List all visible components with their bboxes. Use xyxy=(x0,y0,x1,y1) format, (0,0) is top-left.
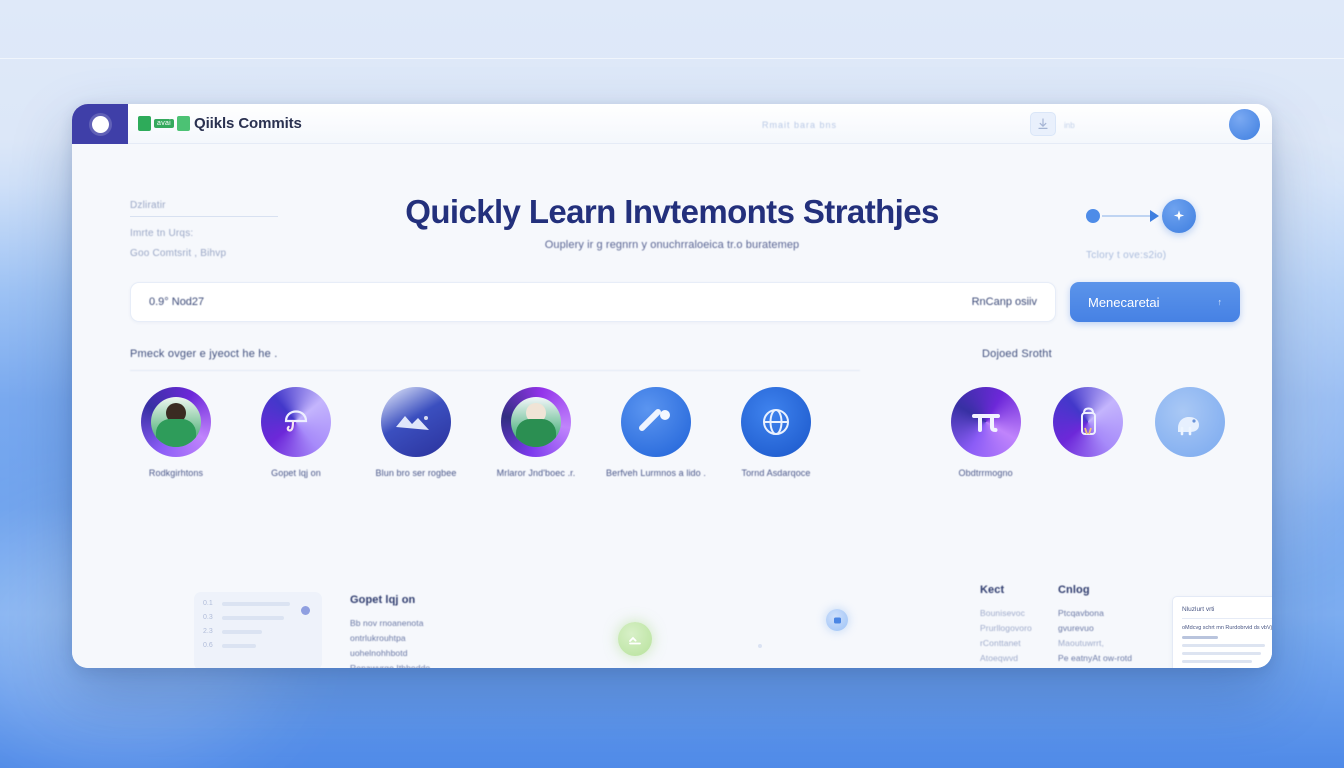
animal-icon xyxy=(1155,387,1225,457)
circle-icon xyxy=(92,116,109,133)
avatar-item[interactable]: Obdtrrmogno xyxy=(938,387,1033,480)
stats-row-bar xyxy=(222,602,290,606)
text-column: Kect Bounisevoc Prurllogovoro rConttanet… xyxy=(980,584,1052,668)
app-logo-badges: avai xyxy=(138,116,190,131)
backpack-icon xyxy=(1053,387,1123,457)
text-column-item: Renawvrge Ithhoddo xyxy=(350,661,480,668)
desktop-seam xyxy=(0,58,1344,59)
avatar-item[interactable]: Rodkgirhtons xyxy=(116,387,236,480)
document-card-divider xyxy=(1182,618,1272,619)
text-column-item: ontrlukrouhtpa xyxy=(350,631,480,646)
app-title: Qiikls Commits xyxy=(194,115,302,132)
toolbar-icon-label: inb xyxy=(1064,121,1075,130)
stats-row: 0.6 xyxy=(203,642,313,649)
chevron-up-icon: ↑ xyxy=(1218,297,1223,307)
window-body: Dzliratir Imrte tn Urqs: Goo Comtsrit , … xyxy=(72,144,1272,668)
right-section-title: Dojoed Srotht xyxy=(982,348,1252,370)
document-card-line xyxy=(1182,644,1265,647)
right-section-header: Dojoed Srotht xyxy=(982,348,1252,370)
document-card-line xyxy=(1182,660,1252,663)
avatar-label: Gopet lqj on xyxy=(236,467,356,480)
text-column-item: rConttanet xyxy=(980,636,1052,651)
avatar-item[interactable]: Gopet lqj on xyxy=(236,387,356,480)
search-value: 0.9° Nod27 xyxy=(149,296,204,308)
avatar-label: Obdtrrmogno xyxy=(938,467,1033,480)
avatar-label: Blun bro ser rogbee xyxy=(356,467,476,480)
arrow-right-icon xyxy=(1150,210,1159,222)
search-row: 0.9° Nod27 RnCanp osiiv Menecaretai ↑ xyxy=(130,282,1240,322)
widget-caption: Tclory t ove:s2io) xyxy=(1086,250,1236,261)
panel-dot-icon xyxy=(301,606,310,615)
avatar-grid: Rodkgirhtons Gopet lqj on xyxy=(116,387,906,480)
text-column-header: Cnlog xyxy=(1058,584,1162,596)
document-card-line xyxy=(1182,636,1218,639)
pi-icon xyxy=(951,387,1021,457)
text-column: Gopet lqj on Bb nov rnoanenota ontrlukro… xyxy=(350,594,480,668)
stats-row-bar xyxy=(222,616,284,620)
stats-row: 0.3 xyxy=(203,614,313,621)
text-column-item: etunnstnehv drgosnnu xyxy=(1058,666,1162,669)
person-icon xyxy=(141,387,211,457)
avatar-item[interactable]: Blun bro ser rogbee xyxy=(356,387,476,480)
globe-icon xyxy=(741,387,811,457)
document-card[interactable]: Nluzlurt vrti oMdcvg schrt mn Rurdobrvid… xyxy=(1172,596,1272,668)
stats-row-number: 0.3 xyxy=(203,614,215,621)
logo-square-icon xyxy=(177,116,190,131)
avatar-item[interactable]: Berfveh Lurmnos a lido . xyxy=(596,387,716,480)
user-avatar-icon[interactable] xyxy=(1229,109,1260,140)
text-column-item: Ptcqavbona xyxy=(1058,606,1162,621)
window-control-block[interactable] xyxy=(72,104,128,144)
primary-action-button[interactable]: Menecaretai ↑ xyxy=(1070,282,1240,322)
app-window: avai Qiikls Commits Rmait bara bns inb D… xyxy=(72,104,1272,668)
comet-icon xyxy=(621,387,691,457)
stats-row-bar xyxy=(222,644,256,648)
primary-button-label: Menecaretai xyxy=(1088,295,1160,310)
status-badge-green xyxy=(618,622,652,656)
decorative-dot-icon xyxy=(758,644,762,648)
flow-diagram xyxy=(1086,196,1236,236)
flow-start-dot-icon xyxy=(1086,209,1100,223)
flow-widget: Tclory t ove:s2io) xyxy=(1086,196,1236,261)
stats-row-number: 0.6 xyxy=(203,642,215,649)
left-section-title: Pmeck ovger e jyeoct he he . xyxy=(130,348,860,371)
search-secondary-value: RnCanp osiiv xyxy=(972,296,1037,308)
text-column-item: Atoeqwvd xyxy=(980,651,1052,666)
search-input[interactable]: 0.9° Nod27 RnCanp osiiv xyxy=(130,282,1056,322)
mountain-icon xyxy=(381,387,451,457)
avatar-item[interactable] xyxy=(1033,387,1143,480)
avatar-item[interactable]: Tornd Asdarqoce xyxy=(716,387,836,480)
text-column-item: Pe eatnyAt ow-rotd xyxy=(1058,651,1162,666)
text-column-item: Bounisevoc xyxy=(980,606,1052,621)
desktop-background: avai Qiikls Commits Rmait bara bns inb D… xyxy=(0,0,1344,768)
avatar-label: Rodkgirhtons xyxy=(116,467,236,480)
sparkle-icon[interactable] xyxy=(1162,199,1196,233)
flow-connector-line xyxy=(1102,215,1154,217)
stats-row: 2.3 xyxy=(203,628,313,635)
text-column-item: uohelnohhbotd xyxy=(350,646,480,661)
left-section-header: Pmeck ovger e jyeoct he he . xyxy=(130,348,860,371)
stats-row-number: 2.3 xyxy=(203,628,215,635)
text-column-header: Gopet lqj on xyxy=(350,594,480,606)
text-column-header: Kect xyxy=(980,584,1052,596)
stats-row-number: 0.1 xyxy=(203,600,215,607)
status-badge-blue xyxy=(826,609,848,631)
logo-badge-label: avai xyxy=(154,119,174,128)
text-column: Cnlog Ptcqavbona gvurevuo Maoutuwrrt, Pe… xyxy=(1058,584,1162,668)
download-icon[interactable] xyxy=(1030,112,1056,136)
avatar-item[interactable] xyxy=(1143,387,1238,480)
avatar-item[interactable]: Mrlaror Jnd'boec .r. xyxy=(476,387,596,480)
text-column-item: Bb nov rnoanenota xyxy=(350,616,480,631)
person-icon xyxy=(501,387,571,457)
document-card-line xyxy=(1182,652,1261,655)
avatar-label: Tornd Asdarqoce xyxy=(716,467,836,480)
stats-panel: 0.1 0.3 2.3 0.6 xyxy=(194,592,322,668)
mushroom-icon xyxy=(261,387,331,457)
avatar-label: Mrlaror Jnd'boec .r. xyxy=(476,467,596,480)
text-column-item: Maoutuwrrt, xyxy=(1058,636,1162,651)
text-column-item: gvurevuo xyxy=(1058,621,1162,636)
logo-square-icon xyxy=(138,116,151,131)
window-titlebar: avai Qiikls Commits Rmait bara bns inb xyxy=(72,104,1272,144)
titlebar-faint-label: Rmait bara bns xyxy=(762,120,837,130)
text-column-item: Prurllogovoro xyxy=(980,621,1052,636)
stats-row-bar xyxy=(222,630,262,634)
stats-row: 0.1 xyxy=(203,600,313,607)
document-card-subtitle: oMdcvg schrt mn Rurdobrvid ds vbVj xyxy=(1182,625,1272,631)
right-avatar-grid: Obdtrrmogno xyxy=(938,387,1238,480)
text-column-item: cdabatonvnv.u xyxy=(980,666,1052,669)
document-card-title: Nluzlurt vrti xyxy=(1182,606,1272,613)
avatar-label: Berfveh Lurmnos a lido . xyxy=(596,467,716,480)
